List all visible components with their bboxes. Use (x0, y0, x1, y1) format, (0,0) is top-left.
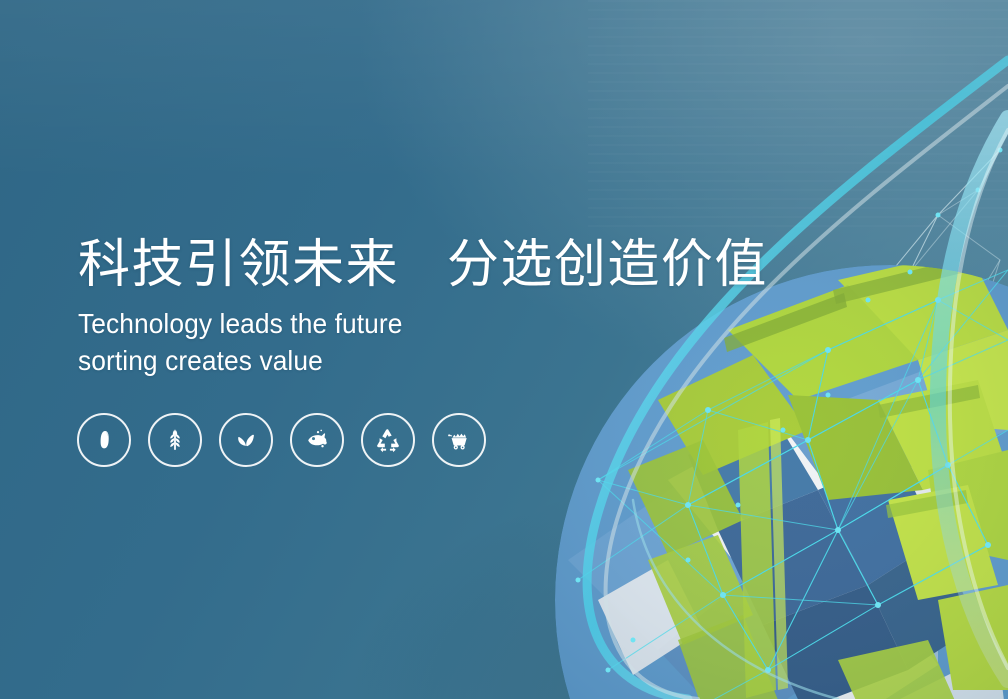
hero-banner: 科技引领未来 分选创造价值 Technology leads the futur… (0, 0, 1008, 699)
rice-grain-icon[interactable] (77, 413, 131, 467)
industry-icon-row (77, 413, 486, 467)
recycle-icon[interactable] (361, 413, 415, 467)
hero-copy: 科技引领未来 分选创造价值 Technology leads the futur… (78, 236, 778, 379)
page-title: 科技引领未来 分选创造价值 (78, 236, 778, 294)
leaves-icon[interactable] (219, 413, 273, 467)
fish-icon[interactable] (290, 413, 344, 467)
mine-cart-icon[interactable] (432, 413, 486, 467)
wheat-ear-icon[interactable] (148, 413, 202, 467)
background-banding (588, 0, 1008, 230)
page-subtitle: Technology leads the future sorting crea… (78, 306, 736, 379)
